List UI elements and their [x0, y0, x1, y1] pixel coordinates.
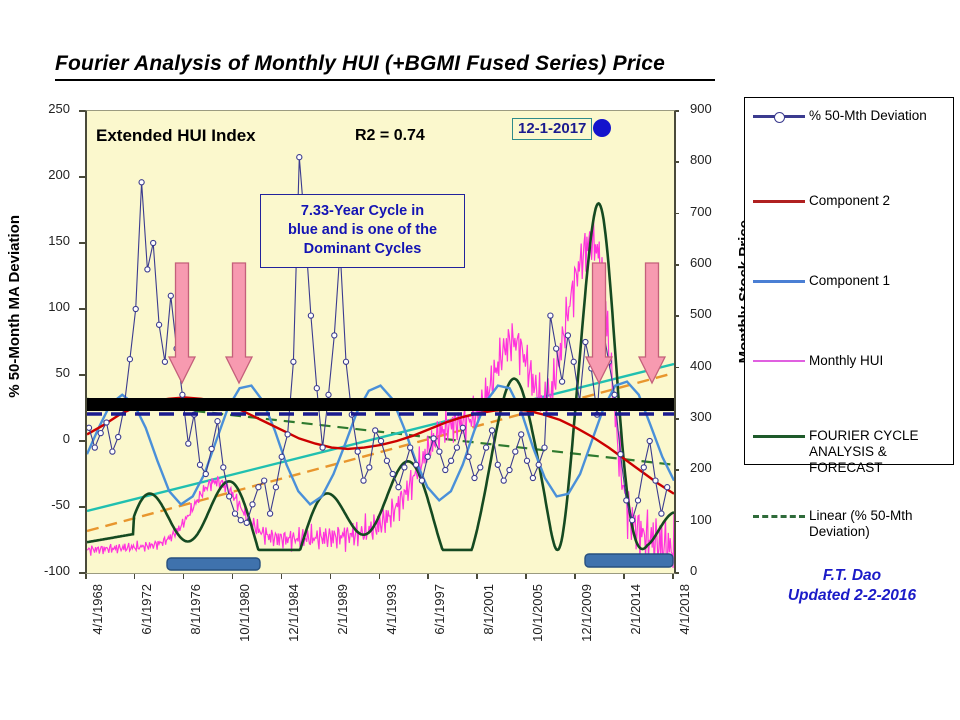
x-tick-label: 4/1/1993	[384, 584, 399, 635]
legend-label: Component 1	[809, 273, 890, 289]
x-tick-label: 10/1/1980	[237, 584, 252, 642]
label-extended-hui-index: Extended HUI Index	[96, 126, 256, 146]
y-tick-left: 150	[24, 233, 70, 248]
x-tick-label: 2/1/2014	[628, 584, 643, 635]
x-tick-label: 8/1/1976	[188, 584, 203, 635]
chart-canvas	[87, 111, 674, 573]
legend-item-2[interactable]: Component 1	[753, 273, 945, 289]
y-tick-right: 500	[690, 306, 736, 321]
cycle-note-box: 7.33-Year Cycle in blue and is one of th…	[260, 194, 465, 268]
y-tick-right: 200	[690, 460, 736, 475]
y-tick-left: -50	[24, 497, 70, 512]
x-tick-label: 2/1/1989	[335, 584, 350, 635]
y-tick-left: 250	[24, 101, 70, 116]
y-tick-left: 100	[24, 299, 70, 314]
y-tick-right: 400	[690, 358, 736, 373]
down-arrow-icon	[226, 263, 252, 383]
x-tick-label: 6/1/1972	[139, 584, 154, 635]
period-bar-2	[585, 554, 673, 567]
legend-item-0[interactable]: % 50-Mth Deviation	[753, 108, 945, 124]
x-tick-label: 10/1/2005	[530, 584, 545, 642]
legend-swatch-icon	[753, 109, 805, 123]
x-tick-label: 12/1/2009	[579, 584, 594, 642]
legend-label: Monthly HUI	[809, 353, 883, 369]
legend-label: % 50-Mth Deviation	[809, 108, 927, 124]
y-tick-left: 0	[24, 431, 70, 446]
cycle-note-line-1: 7.33-Year Cycle in	[265, 202, 460, 221]
series-orange-trend	[87, 373, 674, 531]
legend-item-4[interactable]: FOURIER CYCLE ANALYSIS & FORECAST	[753, 428, 945, 476]
legend-label: Component 2	[809, 193, 890, 209]
x-tick-label: 4/1/2018	[677, 584, 692, 635]
legend-swatch-icon	[753, 509, 805, 523]
down-arrow-group	[169, 263, 665, 383]
zero-reference-line	[87, 398, 674, 411]
y-tick-left: -100	[24, 563, 70, 578]
y-axis-left-title: % 50-Month MA Deviation	[6, 215, 23, 398]
legend-swatch-icon	[753, 194, 805, 208]
cycle-note-line-2: blue and is one of the	[265, 221, 460, 240]
cycle-note-line-3: Dominant Cycles	[265, 240, 460, 259]
label-r2: R2 = 0.74	[355, 127, 425, 145]
plot-area	[85, 110, 676, 574]
down-arrow-icon	[639, 263, 665, 383]
y-tick-right: 300	[690, 409, 736, 424]
y-tick-right: 700	[690, 204, 736, 219]
series-component-2	[87, 397, 674, 493]
date-badge: 12-1-2017	[512, 118, 592, 140]
period-bar-1	[167, 558, 260, 570]
footer-author: F.T. Dao	[752, 566, 952, 586]
footer-credit: F.T. Dao Updated 2-2-2016	[752, 566, 952, 606]
y-tick-left: 200	[24, 167, 70, 182]
legend-label: Linear (% 50-Mth Deviation)	[809, 508, 945, 540]
y-tick-left: 50	[24, 365, 70, 380]
page-title: Fourier Analysis of Monthly HUI (+BGMI F…	[55, 52, 715, 81]
y-tick-right: 600	[690, 255, 736, 270]
x-tick-label: 12/1/1984	[286, 584, 301, 642]
legend-label: FOURIER CYCLE ANALYSIS & FORECAST	[809, 428, 945, 476]
down-arrow-icon	[169, 263, 195, 383]
y-tick-right: 0	[690, 563, 736, 578]
y-tick-right: 800	[690, 152, 736, 167]
legend-item-5[interactable]: Linear (% 50-Mth Deviation)	[753, 508, 945, 540]
chart-legend: % 50-Mth DeviationComponent 2Component 1…	[744, 97, 954, 465]
legend-marker-icon	[774, 112, 785, 123]
legend-swatch-icon	[753, 274, 805, 288]
x-tick-label: 8/1/2001	[481, 584, 496, 635]
forecast-point-dot-icon	[593, 119, 611, 137]
legend-swatch-icon	[753, 429, 805, 443]
y-tick-right: 100	[690, 512, 736, 527]
x-tick-label: 6/1/1997	[432, 584, 447, 635]
x-tick-label: 4/1/1968	[90, 584, 105, 635]
y-tick-right: 900	[690, 101, 736, 116]
legend-item-1[interactable]: Component 2	[753, 193, 945, 209]
legend-swatch-icon	[753, 354, 805, 368]
legend-item-3[interactable]: Monthly HUI	[753, 353, 945, 369]
footer-updated: Updated 2-2-2016	[752, 586, 952, 606]
